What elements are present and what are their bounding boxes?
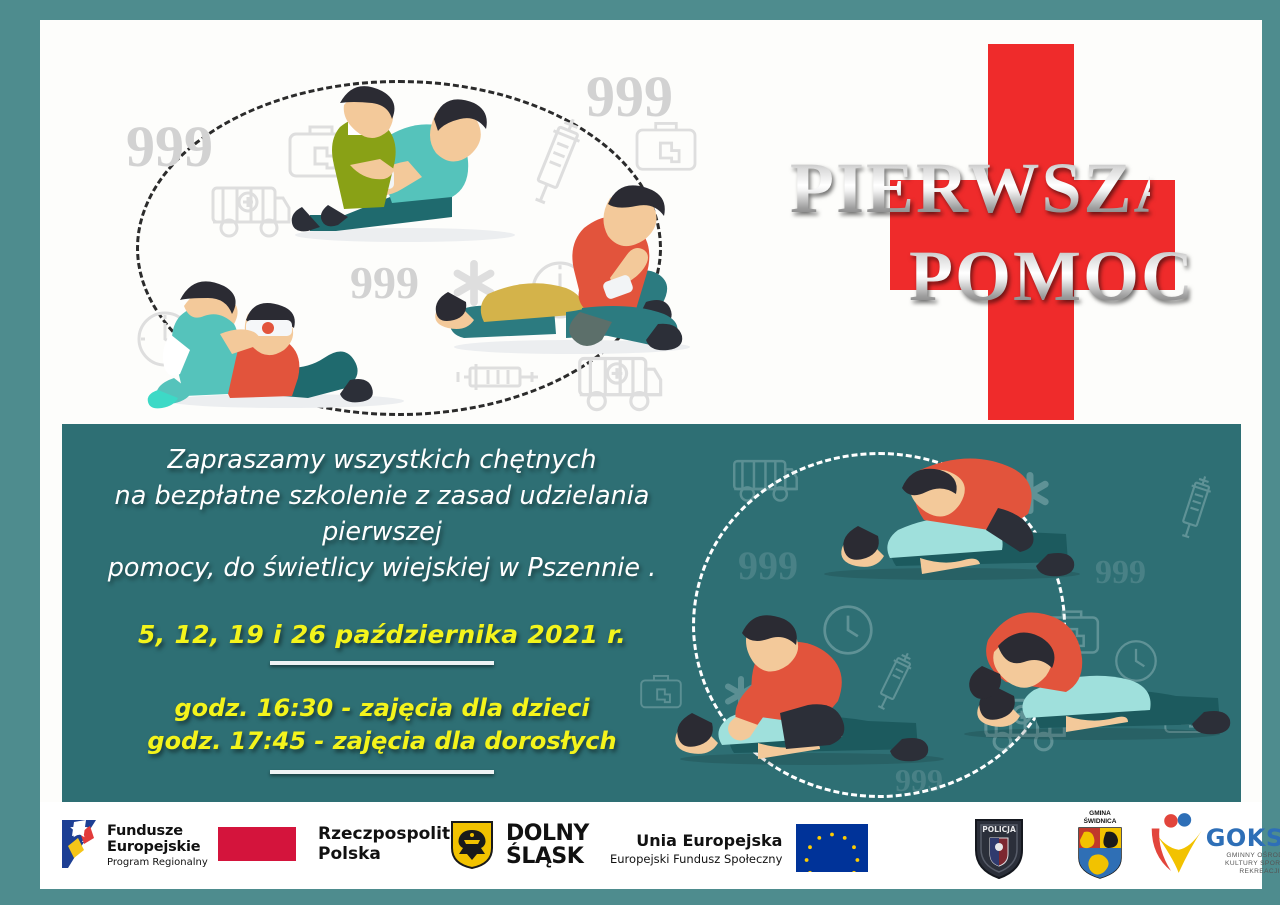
ambulance-icon — [726, 454, 800, 506]
logo-gs-line1: GMINA — [1089, 810, 1111, 818]
logo-fundusze-europejskie: Fundusze Europejskie Program Regionalny — [58, 816, 208, 874]
logo-fe-line1: Fundusze — [107, 823, 208, 839]
emergency-number-999: 999 — [1095, 556, 1146, 590]
fundusze-europejskie-icon — [58, 816, 98, 874]
logo-goksir-name: GOKSiR — [1206, 826, 1280, 850]
lead-line-3: pomocy, do świetlicy wiejskiej w Pszenni… — [82, 550, 682, 586]
hours-adults: godz. 17:45 - zajęcia dla dorosłych — [82, 725, 682, 758]
emergency-number-999: 999 — [738, 546, 798, 586]
logo-unia-europejska: Unia Europejska Europejski Fundusz Społe… — [610, 824, 868, 872]
illustration-cpr-compressions — [662, 609, 962, 769]
poster-title-line2: POMOC — [872, 240, 1232, 312]
illustration-cpr-check-breathing — [802, 454, 1102, 584]
dolny-slask-crest-icon — [450, 820, 494, 870]
logo-policja: POLICJA POLICJA — [970, 812, 1028, 880]
poster-title-line1: PIERWSZA — [790, 152, 1150, 224]
illustration-figure-head-bandage — [136, 238, 436, 410]
logo-goksir-sub1: GMINNY OŚRODEK — [1206, 852, 1280, 860]
emergency-number-999: 999 — [126, 118, 213, 176]
syringe-icon — [1170, 462, 1220, 554]
syringe-icon — [444, 358, 544, 396]
goksir-mark-icon — [1144, 812, 1204, 874]
illustration-rescue-breaths — [942, 604, 1241, 744]
poster-card: 999 999 999 — [40, 20, 1262, 889]
logo-gmina-swidnica: GMINA ŚWIDNICA — [1076, 810, 1124, 880]
logo-rp-line1: Rzeczpospolita — [318, 824, 462, 844]
logo-fe-line2: Europejskie — [107, 839, 208, 855]
lead-line-2: na bezpłatne szkolenie z zasad udzielani… — [82, 478, 682, 550]
logo-rp-line2: Polska — [318, 844, 462, 864]
hours-children: godz. 16:30 - zajęcia dla dzieci — [82, 692, 682, 725]
eu-flag-icon — [796, 824, 868, 872]
logo-fe-subtitle: Program Regionalny — [107, 857, 208, 868]
event-dates: 5, 12, 19 i 26 października 2021 r. — [82, 620, 682, 649]
logo-goksir-sub2: KULTURY SPORTU I REKREACJI — [1206, 860, 1280, 876]
logo-ds-line2: ŚLĄSK — [506, 845, 589, 868]
lead-line-1: Zapraszamy wszystkich chętnych — [82, 442, 682, 478]
divider-rule-bottom — [270, 770, 494, 774]
logo-rzeczpospolita-polska: Rzeczpospolita Polska — [218, 824, 462, 864]
logo-ue-subtitle: Europejski Fundusz Społeczny — [610, 852, 782, 866]
svg-text:POLICJA: POLICJA — [982, 825, 1016, 834]
footer-logo-strip: Fundusze Europejskie Program Regionalny … — [40, 802, 1262, 889]
divider-rule-top — [270, 661, 494, 665]
logo-dolny-slask: DOLNY ŚLĄSK — [450, 820, 589, 870]
info-panel: 999 999 999 — [62, 424, 1241, 802]
logo-ds-line1: DOLNY — [506, 822, 589, 845]
top-illustration-section: 999 999 999 — [40, 20, 1262, 420]
illustration-figure-leg-bandage — [432, 162, 732, 362]
logo-goksir: GOKSiR GMINNY OŚRODEK KULTURY SPORTU I R… — [1144, 812, 1280, 876]
logo-ue-line1: Unia Europejska — [610, 831, 782, 850]
poster-root: 999 999 999 — [0, 0, 1280, 905]
policja-badge-icon: POLICJA — [970, 812, 1028, 880]
logo-gs-line2: ŚWIDNICA — [1084, 818, 1117, 826]
polish-flag-icon — [218, 827, 296, 861]
panel-text-column: Zapraszamy wszystkich chętnych na bezpła… — [82, 442, 682, 802]
red-cross-title-block: PIERWSZA POMOC — [850, 30, 1210, 420]
gmina-swidnica-crest-icon — [1076, 826, 1124, 880]
